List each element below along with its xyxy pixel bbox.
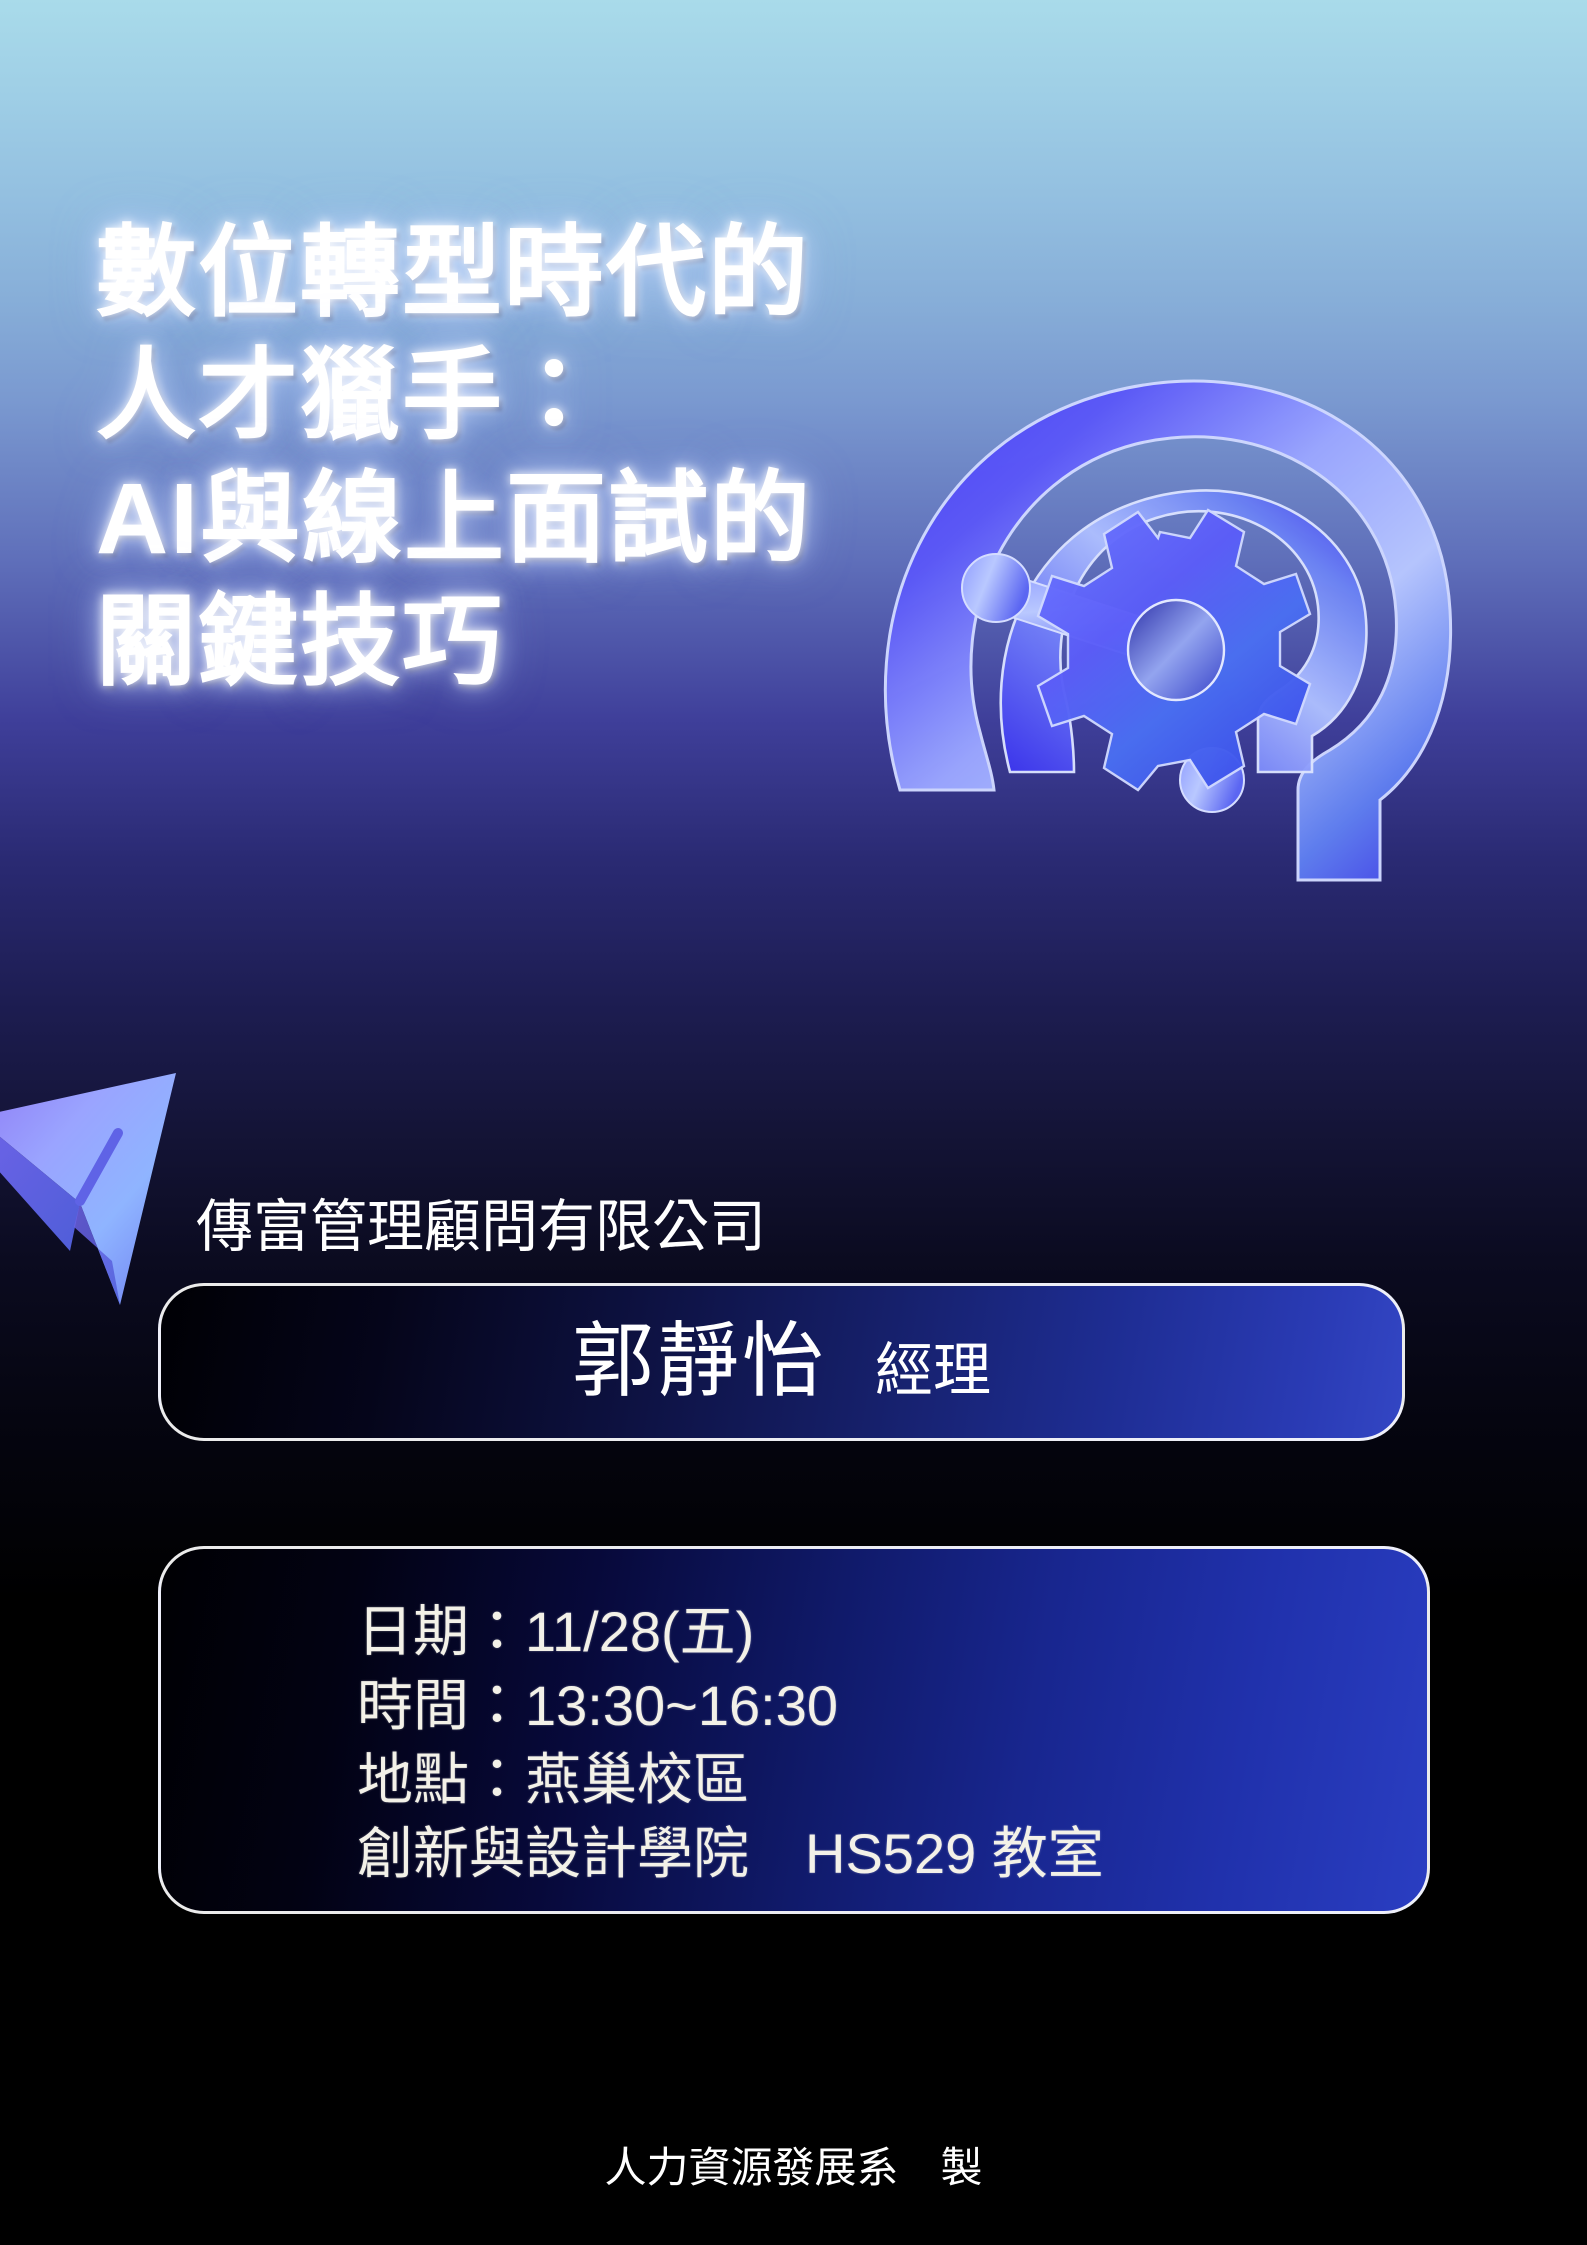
poster-footer: 人力資源發展系 製 [0,2142,1587,2194]
speaker-card: 郭靜怡 經理 [158,1283,1405,1441]
speaker-name: 郭靜怡 [572,1317,827,1407]
detail-time: 時間：13:30~16:30 [357,1669,1427,1743]
company-name: 傳富管理顧問有限公司 [196,1195,766,1259]
speaker-role: 經理 [875,1340,991,1402]
title-line-4: 關鍵技巧 [96,581,996,704]
cursor-arrow-icon [0,1055,220,1325]
event-details-card: 日期：11/28(五) 時間：13:30~16:30 地點：燕巢校區 創新與設計… [158,1546,1430,1914]
detail-venue: 創新與設計學院 HS529 教室 [357,1817,1427,1891]
title-line-2: 人才獵手： [96,335,996,458]
poster-canvas: 數位轉型時代的 人才獵手： AI與線上面試的 關鍵技巧 傳富管理顧問有限公司 郭… [0,0,1587,2245]
title-line-3: AI與線上面試的 [96,458,996,581]
detail-date: 日期：11/28(五) [357,1595,1427,1669]
detail-location: 地點：燕巢校區 [357,1743,1427,1817]
poster-title: 數位轉型時代的 人才獵手： AI與線上面試的 關鍵技巧 [96,212,996,704]
title-line-1: 數位轉型時代的 [96,212,996,335]
